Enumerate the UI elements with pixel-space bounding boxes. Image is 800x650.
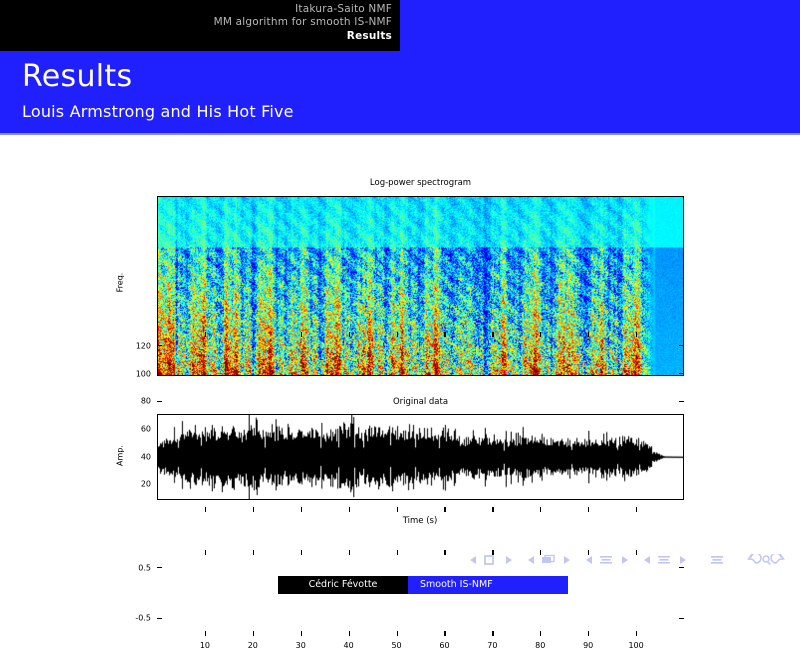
waveform-x-tick-label: 10: [200, 641, 210, 650]
footer-fill: [568, 576, 800, 594]
figure-area: Log-power spectrogram 20406080100120 Fre…: [0, 136, 800, 536]
spectrogram-x-tick-mark: [444, 507, 445, 512]
spectrogram-x-tick-mark: [349, 332, 350, 337]
waveform-x-axis-label: Time (s): [403, 516, 438, 526]
waveform-canvas: [157, 414, 684, 500]
title-divider: [0, 133, 800, 135]
footer-section: Smooth IS-NMF: [408, 576, 568, 594]
spectrogram-y-tick-mark: [679, 373, 684, 374]
waveform-plot: [157, 414, 684, 500]
waveform-x-tick-label: 60: [439, 641, 449, 650]
spectrogram-y-tick-label: 20: [123, 480, 151, 489]
nav-forward-icon: [771, 554, 783, 563]
spectrogram-y-tick-label: 80: [123, 397, 151, 406]
waveform-x-tick-mark: [349, 631, 350, 636]
spectrogram-x-tick-mark: [253, 507, 254, 512]
waveform-x-tick-mark: [205, 631, 206, 636]
spectrogram-x-tick-mark: [492, 507, 493, 512]
nav-prev-slide-icon: [470, 556, 476, 564]
nav-section-group[interactable]: [642, 549, 688, 568]
spectrogram-canvas: [157, 196, 684, 376]
spectrogram-y-tick-mark: [157, 345, 162, 346]
nav-slide-icons[interactable]: [468, 554, 514, 566]
waveform-x-tick-label: 40: [344, 641, 354, 650]
header-blue-fill: [400, 0, 800, 51]
nav-section-lines-icon: [658, 556, 670, 564]
title-block: Results Louis Armstrong and His Hot Five: [0, 51, 800, 134]
nav-history-icons[interactable]: [746, 554, 786, 566]
nav-next-slide-icon: [506, 556, 512, 564]
spectrogram-x-tick-mark: [636, 507, 637, 512]
waveform-x-tick-label: 90: [583, 641, 593, 650]
spectrogram-x-tick-mark: [301, 332, 302, 337]
nav-frame-icons[interactable]: [526, 554, 572, 566]
footer-bar: Cédric Févotte Smooth IS-NMF: [0, 576, 800, 600]
nav-prev-subsection-icon: [586, 556, 592, 564]
nav-back-icon: [749, 554, 761, 563]
spectrogram-x-tick-mark: [205, 332, 206, 337]
waveform-y-tick-mark: [157, 618, 162, 619]
waveform-y-axis-label: Amp.: [116, 436, 125, 476]
spectrogram-x-tick-mark: [492, 332, 493, 337]
spectrogram-x-tick-mark: [588, 507, 589, 512]
spectrogram-x-tick-mark: [636, 332, 637, 337]
header-breadcrumb: Itakura-Saito NMF MM algorithm for smoot…: [214, 3, 392, 43]
nav-next-subsection-icon: [622, 556, 628, 564]
spectrogram-y-tick-label: 40: [123, 452, 151, 461]
spectrogram-x-tick-mark: [301, 507, 302, 512]
waveform-x-tick-mark: [492, 631, 493, 636]
spectrogram-x-tick-mark: [540, 507, 541, 512]
nav-next-frame-icon: [564, 556, 570, 564]
spectrogram-y-tick-label: 60: [123, 424, 151, 433]
nav-history-group[interactable]: [746, 549, 786, 568]
nav-prev-frame-icon: [528, 556, 534, 564]
spectrogram-y-axis-label: Freq.: [116, 263, 125, 303]
footer-author: Cédric Févotte: [278, 576, 408, 594]
page-title: Results: [22, 59, 132, 94]
nav-doc-icon[interactable]: [709, 554, 725, 566]
waveform-x-tick-mark: [253, 631, 254, 636]
spectrogram-plot: [157, 196, 684, 376]
nav-subsection-group[interactable]: [584, 549, 630, 568]
header-line-subsection-active[interactable]: Results: [214, 30, 392, 43]
nav-search-icon: [763, 556, 771, 565]
spectrogram-x-tick-mark: [444, 332, 445, 337]
nav-subsection-icons[interactable]: [584, 554, 630, 566]
nav-slide-box-icon: [485, 556, 493, 564]
waveform-x-tick-label: 20: [248, 641, 258, 650]
waveform-title: Original data: [157, 397, 684, 407]
nav-subsection-lines-icon: [600, 556, 612, 564]
spectrogram-x-tick-mark: [205, 507, 206, 512]
beamer-navigation-symbols: [0, 548, 800, 572]
waveform-x-tick-mark: [588, 631, 589, 636]
waveform-x-tick-mark: [636, 631, 637, 636]
nav-section-icons[interactable]: [642, 554, 688, 566]
spectrogram-x-tick-mark: [397, 507, 398, 512]
header-line-section[interactable]: MM algorithm for smooth IS-NMF: [214, 16, 392, 29]
nav-slide-group[interactable]: [468, 549, 514, 568]
spectrogram-x-tick-mark: [397, 332, 398, 337]
waveform-x-tick-label: 80: [535, 641, 545, 650]
spectrogram-y-tick-label: 120: [123, 341, 151, 350]
nav-frame-group[interactable]: [526, 549, 572, 568]
header-line-talk-title[interactable]: Itakura-Saito NMF: [214, 3, 392, 16]
waveform-x-tick-mark: [444, 631, 445, 636]
slide: Itakura-Saito NMF MM algorithm for smoot…: [0, 0, 800, 600]
waveform-x-tick-mark: [301, 631, 302, 636]
nav-frame-stack-icon: [542, 555, 554, 563]
waveform-x-tick-label: 100: [628, 641, 643, 650]
spectrogram-x-tick-mark: [588, 332, 589, 337]
nav-doc-group[interactable]: [709, 549, 725, 568]
waveform-x-tick-mark: [397, 631, 398, 636]
waveform-x-tick-mark: [540, 631, 541, 636]
spectrogram-y-tick-mark: [679, 345, 684, 346]
waveform-x-tick-label: 50: [391, 641, 401, 650]
nav-prev-section-icon: [644, 556, 650, 564]
spectrogram-x-tick-mark: [349, 507, 350, 512]
spectrogram-x-tick-mark: [253, 332, 254, 337]
spectrogram-x-tick-mark: [540, 332, 541, 337]
page-subtitle: Louis Armstrong and His Hot Five: [22, 102, 294, 121]
waveform-y-tick-label: -0.5: [123, 614, 151, 623]
spectrogram-y-tick-mark: [157, 373, 162, 374]
waveform-x-tick-label: 70: [487, 641, 497, 650]
spectrogram-y-tick-label: 100: [123, 369, 151, 378]
waveform-x-tick-label: 30: [296, 641, 306, 650]
nav-next-section-icon: [680, 556, 686, 564]
spectrogram-title: Log-power spectrogram: [157, 178, 684, 188]
waveform-y-tick-mark: [679, 618, 684, 619]
header-navigation-bar: Itakura-Saito NMF MM algorithm for smoot…: [0, 0, 400, 51]
